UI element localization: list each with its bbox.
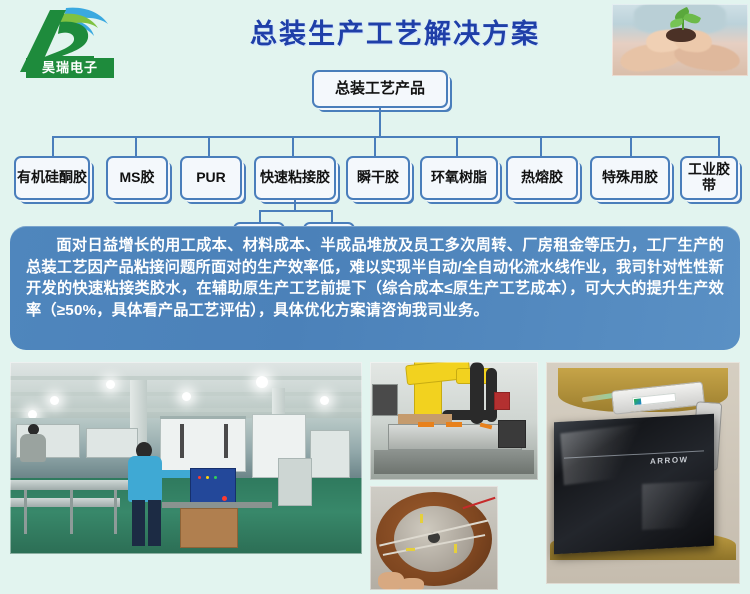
connector-drop-3 [208, 136, 210, 156]
connector-sub-drop-2 [331, 210, 333, 222]
connector-sub-stem [294, 200, 296, 210]
connector-root-stem [379, 108, 381, 136]
connector-drop-4 [292, 136, 294, 156]
page-title: 总装生产工艺解决方案 [205, 14, 585, 54]
flow-node-fast-bond[interactable]: 快速粘接胶 [254, 156, 336, 200]
connector-drop-8 [630, 136, 632, 156]
connector-drop-6 [456, 136, 458, 156]
process-flowchart: 总装工艺产品 有机硅酮胶 MS胶 PUR 快速粘接胶 瞬干胶 环氧树脂 热熔胶 … [0, 60, 750, 220]
black-glass-panel-photo: ARROW [546, 362, 740, 584]
connector-drop-2 [135, 136, 137, 156]
flow-node-tape[interactable]: 工业胶带 [680, 156, 738, 200]
flow-node-silicone[interactable]: 有机硅酮胶 [14, 156, 90, 200]
flow-node-instant[interactable]: 瞬干胶 [346, 156, 410, 200]
flow-node-hotmelt[interactable]: 热熔胶 [506, 156, 578, 200]
connector-bus [52, 136, 720, 138]
connector-drop-7 [540, 136, 542, 156]
factory-assembly-line-photo [10, 362, 362, 554]
flow-node-special[interactable]: 特殊用胶 [590, 156, 670, 200]
flow-node-epoxy[interactable]: 环氧树脂 [420, 156, 498, 200]
flow-node-ms[interactable]: MS胶 [106, 156, 168, 200]
robot-arm-dispensing-photo [370, 362, 538, 480]
flow-node-pur[interactable]: PUR [180, 156, 242, 200]
connector-drop-9 [718, 136, 720, 156]
connector-sub-drop-1 [259, 210, 261, 222]
solution-description-panel: 面对日益增长的用工成本、材料成本、半成品堆放及员工多次周转、厂房租金等压力，工厂… [10, 226, 740, 350]
brake-disc-assembly-photo [370, 486, 498, 590]
flow-node-root[interactable]: 总装工艺产品 [312, 70, 448, 108]
connector-drop-1 [52, 136, 54, 156]
connector-drop-5 [374, 136, 376, 156]
connector-sub-bus [259, 210, 331, 212]
poster-root: 昊瑞电子 总装生产工艺解决方案 总装工艺产品 有机硅酮胶 MS胶 P [0, 0, 750, 594]
